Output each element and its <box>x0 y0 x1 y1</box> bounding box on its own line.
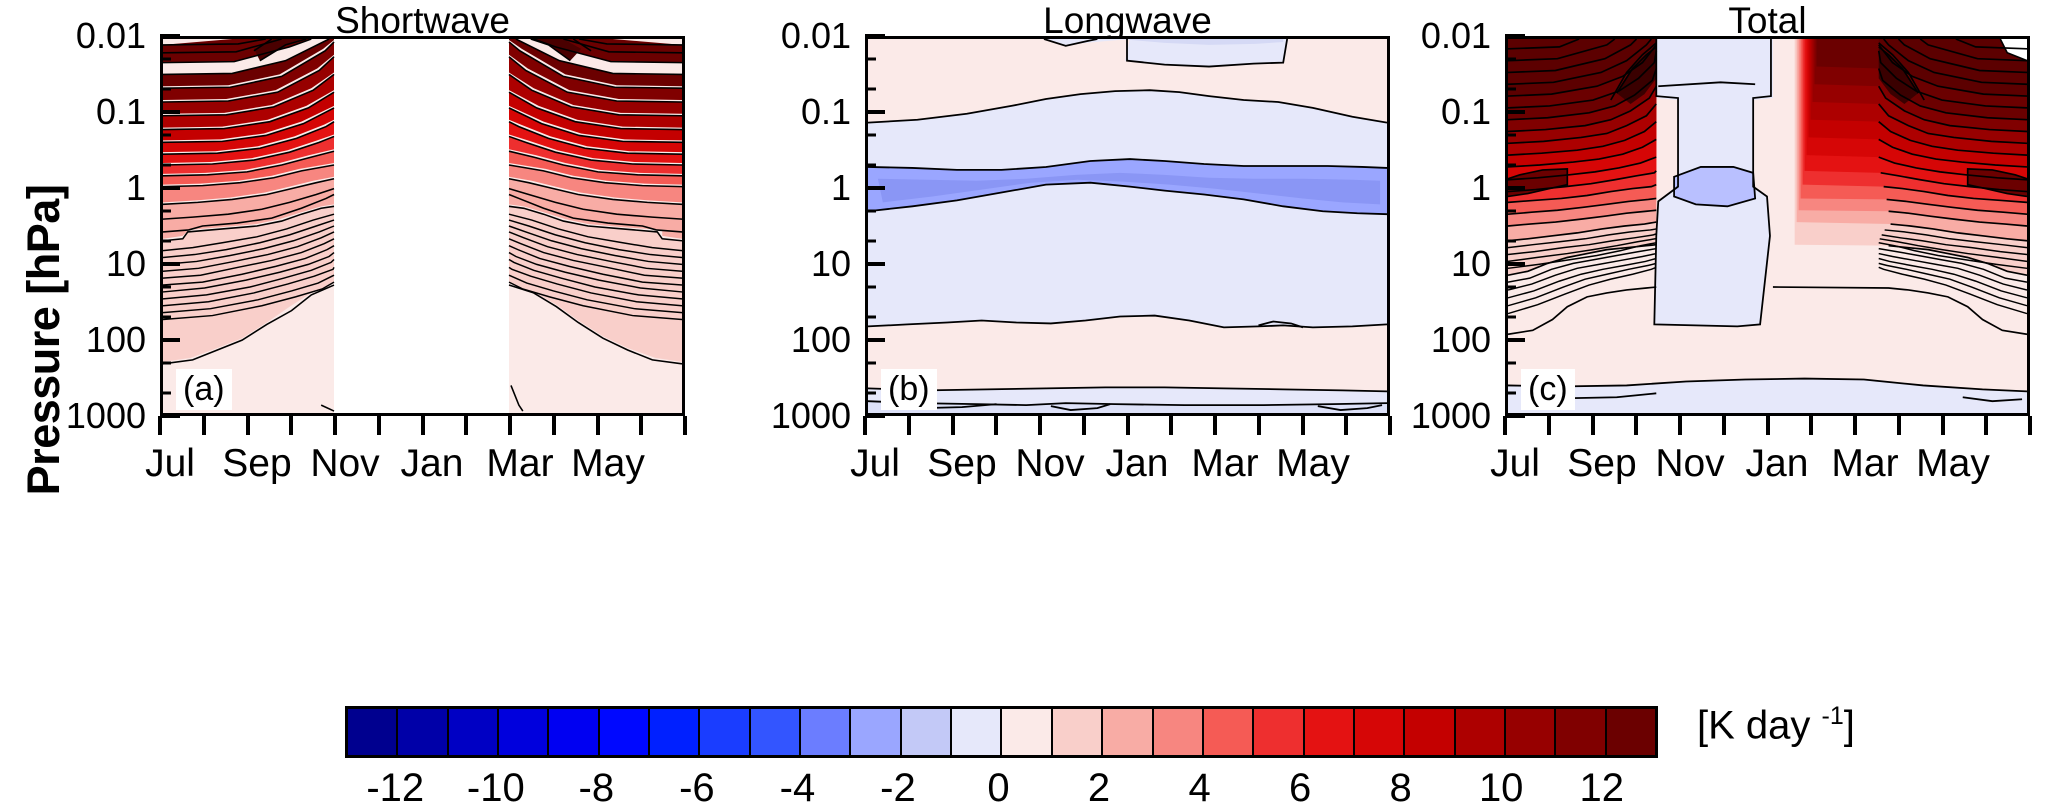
panel-b-xtickmark <box>1169 416 1173 435</box>
colorbar-swatch-20 <box>1355 709 1405 755</box>
panel-c-ytickmark-major <box>1505 34 1525 38</box>
panel-b-plotbox <box>865 36 1390 416</box>
colorbar-tick--10: -10 <box>467 766 525 811</box>
panel-b-xtickmark <box>951 416 955 435</box>
panel-b-ytickmark-minor <box>865 316 876 319</box>
colorbar-swatch-3 <box>499 709 549 755</box>
panel-a-ytickmark-major <box>160 186 180 190</box>
colorbar-swatch-11 <box>902 709 952 755</box>
panel-b-xtick-may: May <box>1276 442 1350 486</box>
colorbar-unit-prefix: [K day <box>1697 703 1822 747</box>
colorbar-swatch-10 <box>851 709 901 755</box>
panel-a-xtickmark <box>333 416 337 435</box>
panel-b-ytickmark-major <box>865 186 885 190</box>
panel-c-xtickmark <box>1722 416 1726 435</box>
panel-a-ytickmark-minor <box>160 316 171 319</box>
panel-c-xtick-jul: Jul <box>1490 442 1540 486</box>
colorbar-swatch-8 <box>751 709 801 755</box>
panel-b-xtick-jul: Jul <box>850 442 900 486</box>
colorbar-unit-exponent: -1 <box>1822 702 1844 730</box>
panel-c-contours <box>1508 39 2027 413</box>
panel-a-xtickmark <box>421 416 425 435</box>
colorbar-swatch-18 <box>1254 709 1304 755</box>
panel-c-ytick-3: 10 <box>1451 243 1491 285</box>
panel-c-ytickmark-major <box>1505 186 1525 190</box>
panel-a-ytickmark-major <box>160 338 180 342</box>
colorbar: -12-10-8-6-4-2024681012 [K day -1] <box>345 706 1658 758</box>
panel-a-xtick-may: May <box>571 442 645 486</box>
panel-c-plotbox <box>1505 36 2030 416</box>
colorbar-tick--8: -8 <box>579 766 615 811</box>
panel-a-xtickmark <box>202 416 206 435</box>
panel-b-ytick-3: 10 <box>811 243 851 285</box>
panel-a-tag: (a) <box>176 369 232 410</box>
panel-b-ytick-4: 100 <box>791 319 851 361</box>
panel-shortwave: Shortwave <box>160 36 685 416</box>
colorbar-tick-10: 10 <box>1479 766 1524 811</box>
panel-b-ytickmark-minor <box>865 240 876 243</box>
colorbar-swatch-14 <box>1053 709 1103 755</box>
panel-a-xtickmark <box>683 416 687 435</box>
panel-c-xtick-nov: Nov <box>1655 442 1724 486</box>
panel-b-xtickmark <box>1082 416 1086 435</box>
panel-c-xtickmark <box>1634 416 1638 435</box>
panel-c-ytick-1: 0.1 <box>1441 91 1491 133</box>
colorbar-swatch-6 <box>650 709 700 755</box>
colorbar-swatch-23 <box>1506 709 1556 755</box>
panel-c-xtickmark <box>1853 416 1857 435</box>
colorbar-tick-0: 0 <box>987 766 1009 811</box>
panel-a-ytick-4: 100 <box>86 319 146 361</box>
panel-a-ytickmark-minor <box>160 240 171 243</box>
panel-c-xtickmark <box>1678 416 1682 435</box>
panel-a-ytick-5: 1000 <box>66 395 146 437</box>
panel-c-ytick-4: 100 <box>1431 319 1491 361</box>
panel-b-ytickmark-major <box>865 338 885 342</box>
panel-a-ytickmark-minor <box>160 58 171 61</box>
panel-c-xtickmark <box>1591 416 1595 435</box>
panel-b-xtick-jan: Jan <box>1106 442 1169 486</box>
panel-c-xtickmark <box>1503 416 1507 435</box>
panel-b-ytickmark-major <box>865 262 885 266</box>
panel-c-ytickmark-minor <box>1505 134 1516 137</box>
panel-c-xtickmark <box>1897 416 1901 435</box>
colorbar-tick--12: -12 <box>366 766 424 811</box>
panel-a-ytickmark-minor <box>160 88 171 91</box>
panel-a-ytick-0: 0.01 <box>76 15 146 57</box>
panel-c-ytickmark-major <box>1505 262 1525 266</box>
panel-a-xtickmark <box>596 416 600 435</box>
panel-b-tag: (b) <box>881 369 937 410</box>
panel-a-xtickmark <box>464 416 468 435</box>
panel-b-xtickmark <box>994 416 998 435</box>
panel-c-ytickmark-major <box>1505 338 1525 342</box>
panel-a-ytickmark-minor <box>160 392 171 395</box>
colorbar-swatch-4 <box>549 709 599 755</box>
panel-a-xtickmark <box>552 416 556 435</box>
colorbar-unit-suffix: ] <box>1844 703 1855 747</box>
colorbar-swatch-9 <box>801 709 851 755</box>
panel-b-ytickmark-minor <box>865 134 876 137</box>
panel-c-xtickmark <box>1941 416 1945 435</box>
panel-b-xtickmark <box>1301 416 1305 435</box>
panel-c-ytick-5: 1000 <box>1411 395 1491 437</box>
panel-b-xtickmark <box>1213 416 1217 435</box>
panel-b-ytickmark-minor <box>865 210 876 213</box>
colorbar-swatch-17 <box>1204 709 1254 755</box>
panel-c-xtick-jan: Jan <box>1746 442 1809 486</box>
panel-a-xtick-nov: Nov <box>310 442 379 486</box>
panel-c-xtickmark <box>1766 416 1770 435</box>
colorbar-swatch-22 <box>1456 709 1506 755</box>
panel-a-xtickmark <box>377 416 381 435</box>
panel-a-ytickmark-minor <box>160 210 171 213</box>
colorbar-swatch-7 <box>700 709 750 755</box>
y-axis-title: Pressure [hPa] <box>14 60 74 620</box>
colorbar-tick--2: -2 <box>880 766 916 811</box>
panel-b-xtick-sep: Sep <box>927 442 996 486</box>
panel-c-ytickmark-minor <box>1505 316 1516 319</box>
colorbar-swatch-12 <box>952 709 1002 755</box>
panel-c-ytickmark-major <box>1505 110 1525 114</box>
panel-a-ytick-3: 10 <box>106 243 146 285</box>
panel-c-tag: (c) <box>1521 369 1575 410</box>
panel-b-xtickmark <box>907 416 911 435</box>
panel-a-ytickmark-major <box>160 34 180 38</box>
panel-c-ytickmark-minor <box>1505 240 1516 243</box>
colorbar-swatch-13 <box>1002 709 1052 755</box>
panel-c-ytick-2: 1 <box>1471 167 1491 209</box>
colorbar-swatch-5 <box>600 709 650 755</box>
panel-a-xtickmark <box>508 416 512 435</box>
panel-a-ytickmark-minor <box>160 362 171 365</box>
panel-a-xtickmark <box>246 416 250 435</box>
panel-b-xtickmark <box>1126 416 1130 435</box>
panel-a-ytickmark-minor <box>160 164 171 167</box>
panel-b-xtickmark <box>863 416 867 435</box>
colorbar-tick--4: -4 <box>780 766 816 811</box>
colorbar-tick-4: 4 <box>1188 766 1210 811</box>
panel-b-ytickmark-minor <box>865 362 876 365</box>
panel-a-ytickmark-minor <box>160 134 171 137</box>
colorbar-swatch-15 <box>1103 709 1153 755</box>
panel-a-plotbox <box>160 36 685 416</box>
panel-b-ytick-0: 0.01 <box>781 15 851 57</box>
colorbar-tick-8: 8 <box>1390 766 1412 811</box>
panel-c-ytickmark-minor <box>1505 58 1516 61</box>
panel-c-ytickmark-minor <box>1505 392 1516 395</box>
panel-c-xtick-may: May <box>1916 442 1990 486</box>
panel-a-xtickmark <box>289 416 293 435</box>
panel-b-xtick-nov: Nov <box>1015 442 1084 486</box>
panel-c-ytickmark-minor <box>1505 164 1516 167</box>
colorbar-swatch-1 <box>398 709 448 755</box>
panel-c-ytickmark-minor <box>1505 210 1516 213</box>
panel-b-ytickmark-minor <box>865 164 876 167</box>
panel-c-xtick-mar: Mar <box>1831 442 1898 486</box>
panel-b-ytick-5: 1000 <box>771 395 851 437</box>
panel-b-ytickmark-minor <box>865 58 876 61</box>
panel-c-ytickmark-minor <box>1505 362 1516 365</box>
panel-b-ytickmark-major <box>865 414 885 418</box>
panel-c-xtickmark <box>2028 416 2032 435</box>
panel-a-ytick-2: 1 <box>126 167 146 209</box>
panel-b-ytickmark-minor <box>865 88 876 91</box>
colorbar-tick-6: 6 <box>1289 766 1311 811</box>
panel-c-xtickmark <box>1809 416 1813 435</box>
panel-a-xtick-mar: Mar <box>486 442 553 486</box>
panel-c-xtickmark <box>1984 416 1988 435</box>
colorbar-swatch-19 <box>1305 709 1355 755</box>
panel-c-xtickmark <box>1547 416 1551 435</box>
colorbar-tick--6: -6 <box>679 766 715 811</box>
panel-b-contours <box>868 39 1387 413</box>
panel-a-ytick-1: 0.1 <box>96 91 146 133</box>
panel-a-ytickmark-major <box>160 262 180 266</box>
panel-a-xtickmark <box>639 416 643 435</box>
panel-a-xtick-jan: Jan <box>401 442 464 486</box>
panel-b-ytick-1: 0.1 <box>801 91 851 133</box>
colorbar-swatch-25 <box>1607 709 1655 755</box>
panel-a-ytickmark-minor <box>160 286 171 289</box>
panel-c-ytickmark-minor <box>1505 286 1516 289</box>
figure-canvas: Pressure [hPa] Shortwave <box>0 0 2067 784</box>
panel-b-xtickmark <box>1038 416 1042 435</box>
colorbar-swatch-16 <box>1154 709 1204 755</box>
colorbar-swatches <box>345 706 1658 758</box>
panel-c-ytickmark-major <box>1505 414 1525 418</box>
panel-b-xtick-mar: Mar <box>1191 442 1258 486</box>
panel-b-xtickmark <box>1388 416 1392 435</box>
colorbar-swatch-0 <box>348 709 398 755</box>
panel-c-ytick-0: 0.01 <box>1421 15 1491 57</box>
panel-b-ytickmark-major <box>865 34 885 38</box>
panel-b-xtickmark <box>1344 416 1348 435</box>
panel-b-ytick-2: 1 <box>831 167 851 209</box>
panel-c-ytickmark-minor <box>1505 88 1516 91</box>
panel-c-xtick-sep: Sep <box>1567 442 1636 486</box>
panel-longwave: Longwave <box>865 36 1390 416</box>
colorbar-swatch-24 <box>1556 709 1606 755</box>
panel-a-ytickmark-major <box>160 414 180 418</box>
panel-a-xtick-jul: Jul <box>145 442 195 486</box>
panel-b-ytickmark-major <box>865 110 885 114</box>
panel-a-xtickmark <box>158 416 162 435</box>
panel-b-ytickmark-minor <box>865 392 876 395</box>
panel-a-contours <box>163 39 682 413</box>
colorbar-tick-2: 2 <box>1088 766 1110 811</box>
colorbar-swatch-21 <box>1405 709 1455 755</box>
panel-b-xtickmark <box>1257 416 1261 435</box>
panel-total: Total <box>1505 36 2030 416</box>
colorbar-tick-12: 12 <box>1579 766 1624 811</box>
colorbar-unit-label: [K day -1] <box>1697 702 1855 748</box>
panel-a-xtick-sep: Sep <box>222 442 291 486</box>
colorbar-swatch-2 <box>449 709 499 755</box>
panel-b-ytickmark-minor <box>865 286 876 289</box>
panel-a-ytickmark-major <box>160 110 180 114</box>
